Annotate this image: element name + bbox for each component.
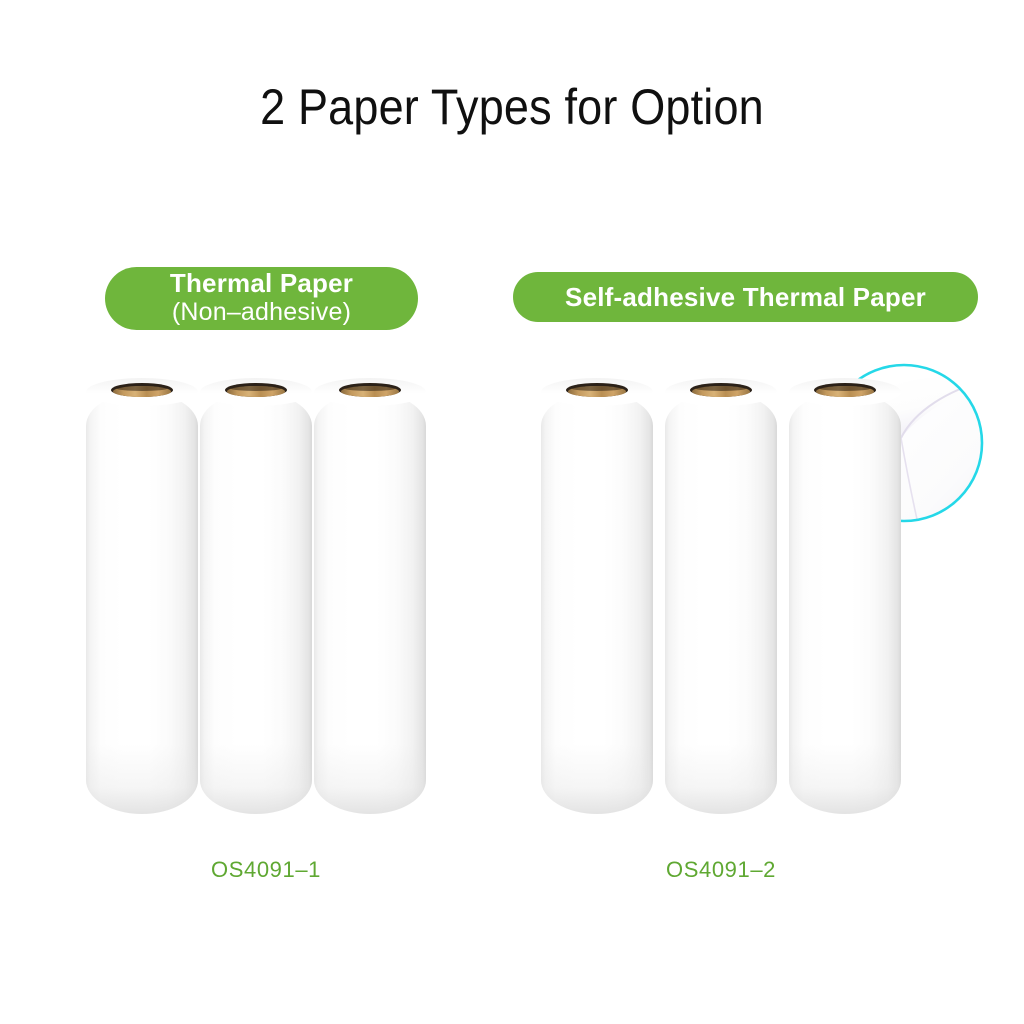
badge-self-adhesive-thermal-paper: Self-adhesive Thermal Paper <box>513 272 978 322</box>
paper-roll-cardboard-core <box>341 386 399 397</box>
paper-roll-cardboard-core <box>816 386 874 397</box>
paper-roll <box>200 378 312 814</box>
paper-roll <box>86 378 198 814</box>
sku-label-thermal-paper: OS4091–1 <box>146 857 386 883</box>
badge-thermal-paper: Thermal Paper (Non–adhesive) <box>105 267 418 330</box>
paper-roll-body <box>86 392 198 814</box>
badge-self-adhesive-thermal-paper-title: Self-adhesive Thermal Paper <box>565 283 926 311</box>
paper-roll-body <box>200 392 312 814</box>
roll-group-thermal-paper <box>86 378 426 814</box>
paper-roll-body <box>665 392 777 814</box>
paper-roll-cardboard-core <box>568 386 626 397</box>
paper-roll <box>789 378 901 814</box>
paper-roll-cardboard-core <box>113 386 171 397</box>
paper-roll-body <box>314 392 426 814</box>
roll-group-self-adhesive-thermal-paper <box>541 378 901 814</box>
paper-roll-cardboard-core <box>692 386 750 397</box>
product-infographic: 2 Paper Types for Option Thermal Paper (… <box>0 0 1024 1024</box>
paper-roll <box>541 378 653 814</box>
paper-roll <box>314 378 426 814</box>
page-title: 2 Paper Types for Option <box>51 78 973 136</box>
badge-thermal-paper-title: Thermal Paper <box>170 269 353 297</box>
badge-thermal-paper-subtitle: (Non–adhesive) <box>172 298 351 326</box>
sku-label-self-adhesive-thermal-paper: OS4091–2 <box>601 857 841 883</box>
paper-roll-body <box>789 392 901 814</box>
paper-roll-cardboard-core <box>227 386 285 397</box>
paper-roll <box>665 378 777 814</box>
paper-roll-body <box>541 392 653 814</box>
